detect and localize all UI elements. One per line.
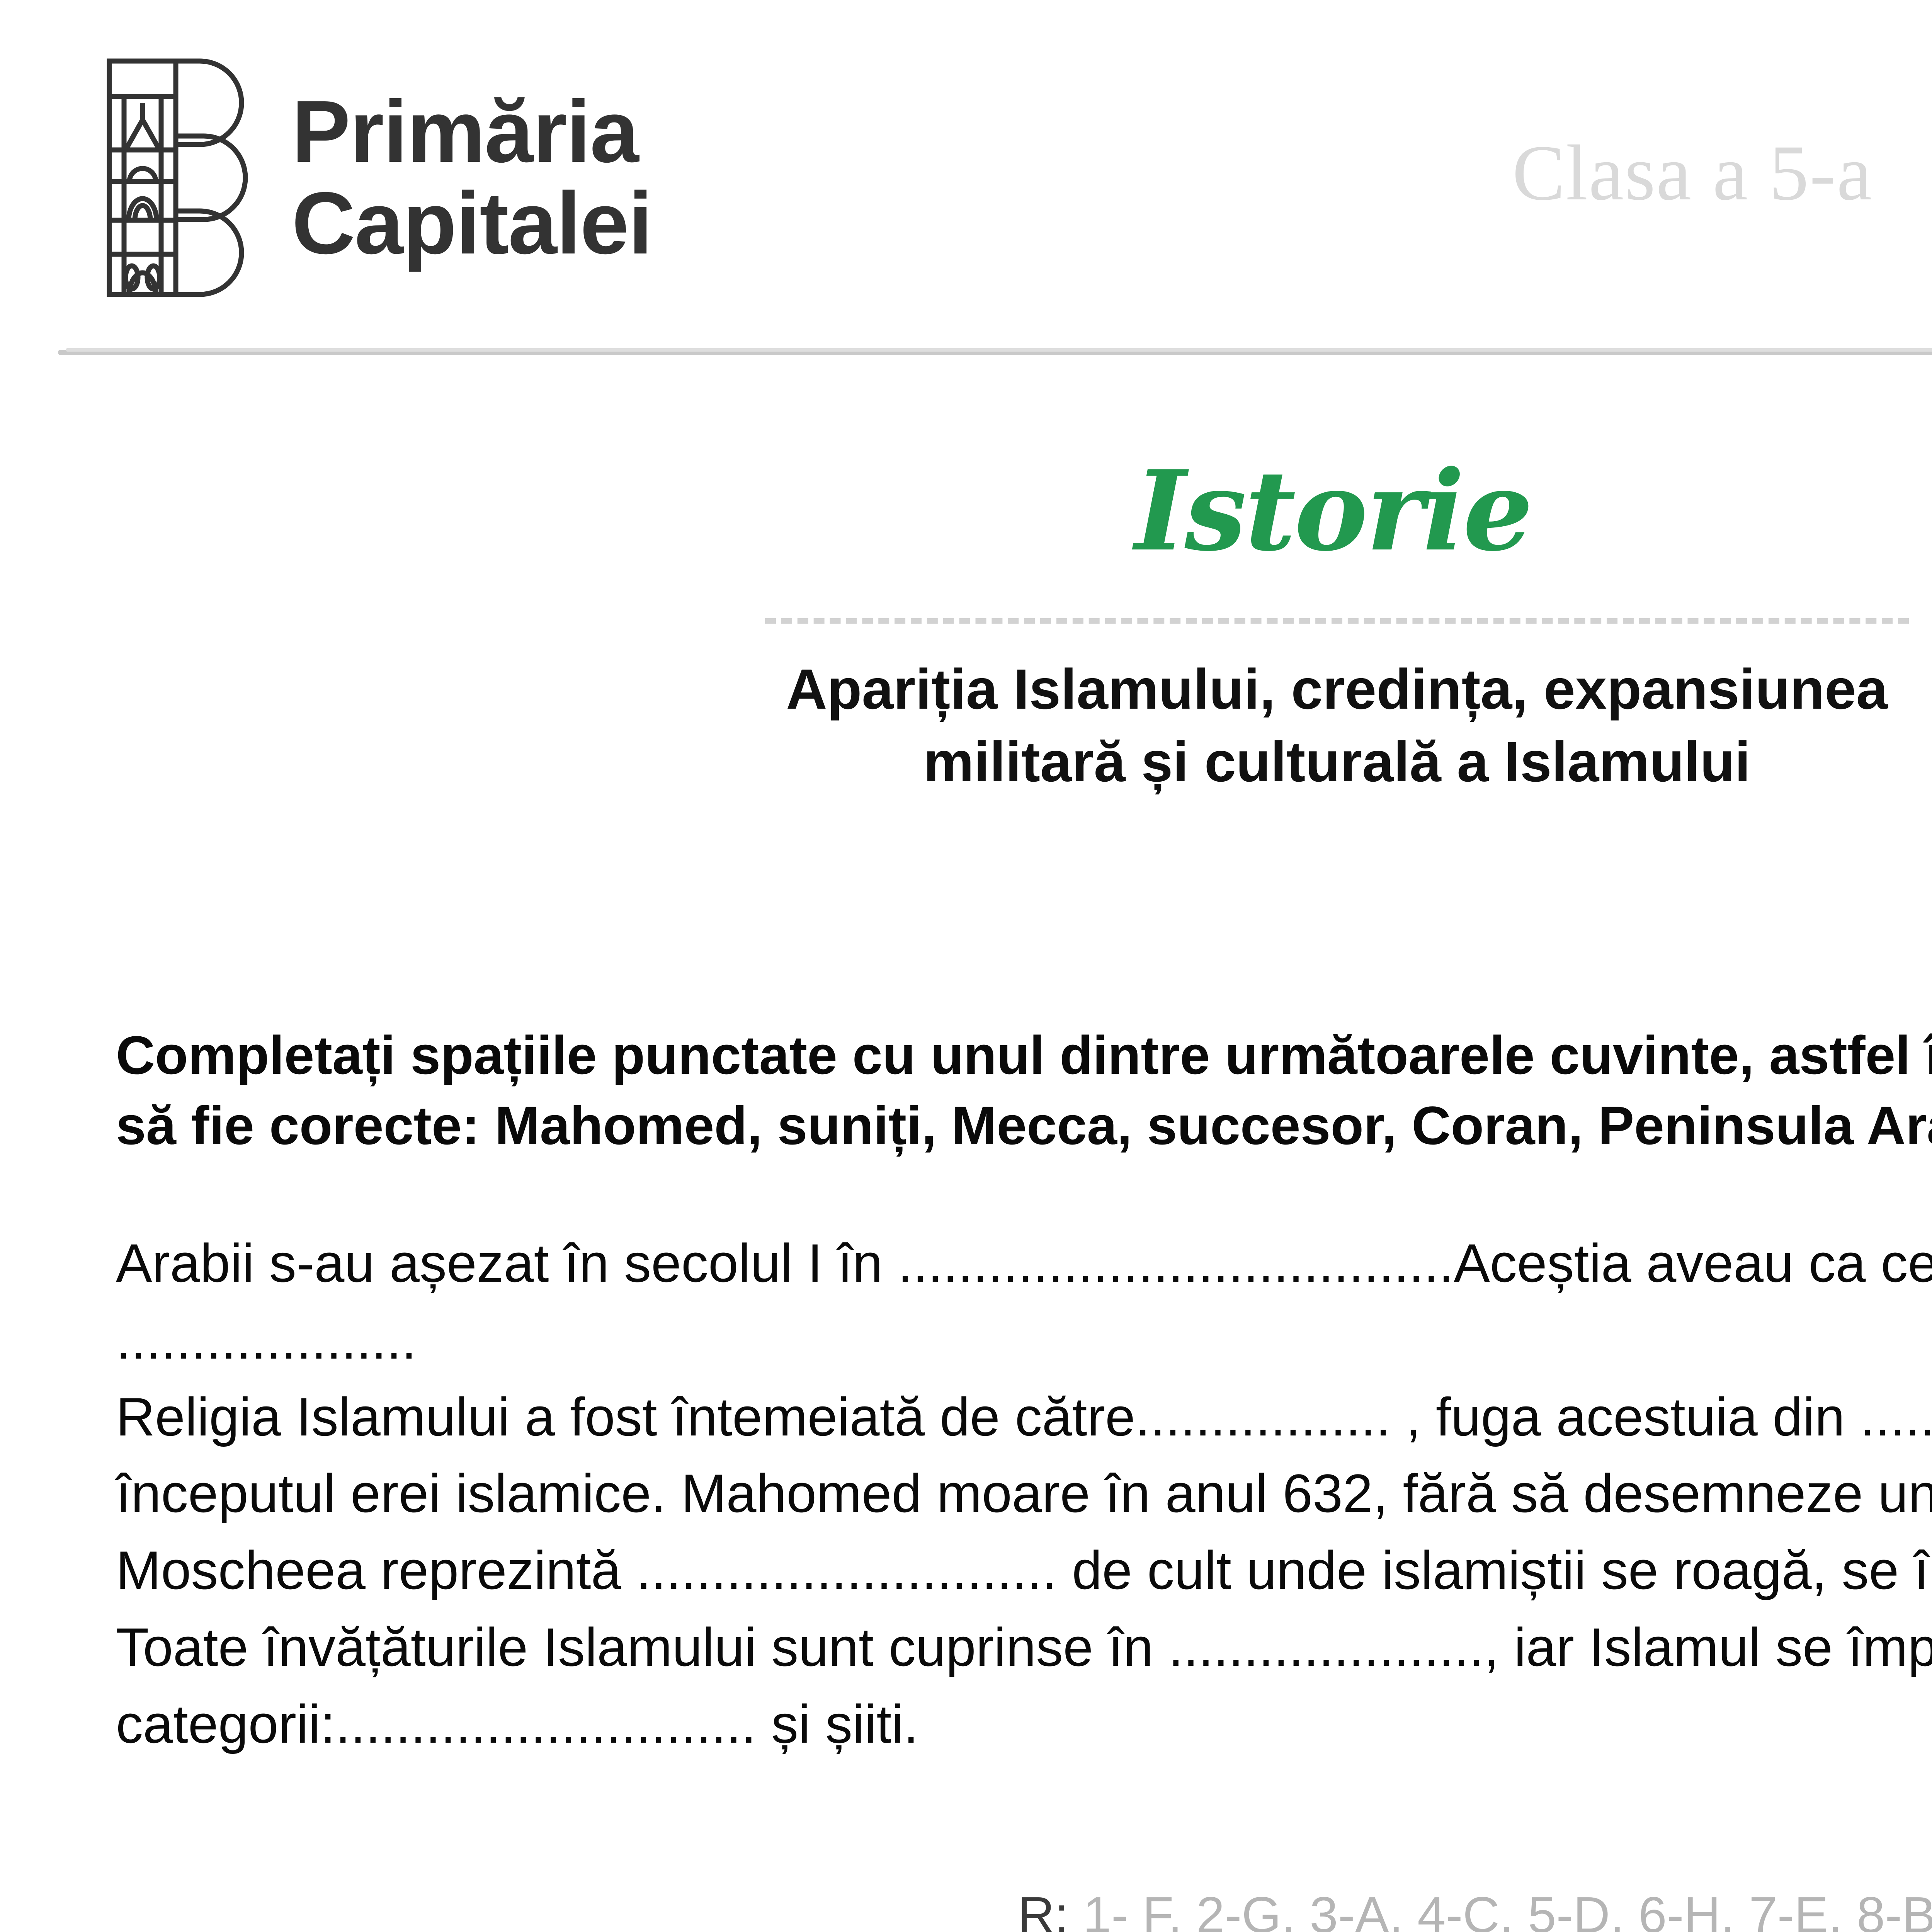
exercise-line: Religia Islamului a fost întemeiată de c… xyxy=(116,1379,1932,1456)
answer-key: R: 1- F, 2-G, 3-A, 4-C, 5-D, 6-H, 7-E, 8… xyxy=(0,1886,1932,1932)
instruction-text: Completați spațiile punctate cu unul din… xyxy=(116,1020,1932,1161)
exercise-line: începutul erei islamice. Mahomed moare î… xyxy=(116,1455,1932,1532)
subject-name: Istorie xyxy=(715,456,1932,566)
exercise-line: categorii:............................ ș… xyxy=(116,1686,1932,1763)
lesson-title: Apariția Islamului, credința, expansiune… xyxy=(688,653,1932,798)
answer-value: 1- F, 2-G, 3-A, 4-C, 5-D, 6-H, 7-E, 8-B. xyxy=(1083,1886,1932,1932)
exercise-line: Arabii s-au așezat în secolul I în .....… xyxy=(116,1225,1932,1302)
grade-label: Clasa a 5-a xyxy=(1306,128,1932,219)
header-divider xyxy=(58,350,1932,355)
primaria-building-icon xyxy=(102,54,269,301)
lesson-title-line2: militară și culturală a Islamului xyxy=(688,726,1932,798)
institution-line1: Primăria xyxy=(292,86,652,178)
instruction-line2: să fie corecte: Mahomed, suniți, Mecca, … xyxy=(116,1090,1932,1161)
exercise-line: Toate învățăturile Islamului sunt cuprin… xyxy=(116,1609,1932,1686)
page-header: Primăria Capitalei Clasa a 5-a xyxy=(0,0,1932,371)
answer-label: R: xyxy=(1018,1886,1069,1932)
instruction-line1: Completați spațiile punctate cu unul din… xyxy=(116,1020,1932,1090)
exercise-line: Moscheea reprezintă ....................… xyxy=(116,1532,1932,1609)
primaria-capitalei-logo: Primăria Capitalei xyxy=(102,54,652,301)
lesson-title-line1: Apariția Islamului, credința, expansiune… xyxy=(688,653,1932,726)
dashed-separator xyxy=(765,618,1909,624)
institution-line2: Capitalei xyxy=(292,178,652,269)
subject-heading: Istorie xyxy=(715,456,1932,566)
primaria-capitalei-wordmark: Primăria Capitalei xyxy=(292,86,652,269)
exercise-body: Arabii s-au așezat în secolul I în .....… xyxy=(116,1225,1932,1763)
exercise-line: .................... xyxy=(116,1302,1932,1379)
